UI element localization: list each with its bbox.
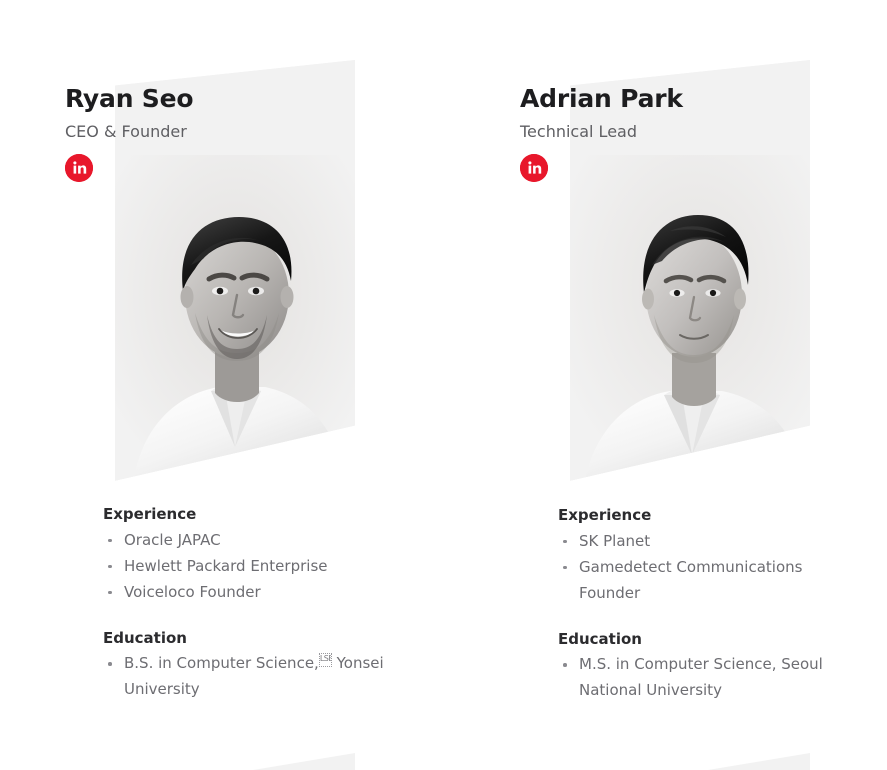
person-name: Adrian Park bbox=[520, 85, 850, 113]
person-name: Ryan Seo bbox=[65, 85, 395, 113]
experience-list: Oracle JAPAC Hewlett Packard Enterprise … bbox=[103, 528, 403, 606]
list-item: M.S. in Computer Science, Seoul National… bbox=[558, 652, 858, 704]
experience-list: SK Planet Gamedetect Communications Foun… bbox=[558, 529, 858, 607]
list-item: B.S. in Computer Science,LSEP Yonsei Uni… bbox=[103, 651, 403, 703]
linkedin-glyph bbox=[520, 154, 548, 182]
line-separator-glyph: LSEP bbox=[319, 653, 332, 667]
identity-block: Adrian Park Technical Lead bbox=[520, 85, 850, 182]
experience-group: Experience Oracle JAPAC Hewlett Packard … bbox=[103, 505, 403, 606]
education-list: B.S. in Computer Science,LSEP Yonsei Uni… bbox=[103, 651, 403, 703]
education-heading: Education bbox=[558, 630, 858, 649]
education-prefix: B.S. in Computer Science, bbox=[124, 654, 319, 672]
experience-heading: Experience bbox=[558, 506, 858, 525]
person-role: Technical Lead bbox=[520, 122, 850, 141]
profile-card-adrian-park: Adrian Park Technical Lead Experience SK… bbox=[505, 0, 887, 770]
list-item: SK Planet bbox=[558, 529, 858, 555]
education-list: M.S. in Computer Science, Seoul National… bbox=[558, 652, 858, 704]
linkedin-icon[interactable] bbox=[520, 154, 548, 182]
experience-heading: Experience bbox=[103, 505, 403, 524]
experience-group: Experience SK Planet Gamedetect Communic… bbox=[558, 506, 858, 607]
list-item: Hewlett Packard Enterprise bbox=[103, 554, 403, 580]
education-heading: Education bbox=[103, 629, 403, 648]
profile-card-ryan-seo: Ryan Seo CEO & Founder Experience Oracle… bbox=[50, 0, 470, 770]
portrait-photo-adrian-park bbox=[570, 155, 810, 485]
linkedin-glyph bbox=[65, 154, 93, 182]
team-profiles-section: Ryan Seo CEO & Founder Experience Oracle… bbox=[0, 0, 887, 770]
list-item: Oracle JAPAC bbox=[103, 528, 403, 554]
details-block: Experience Oracle JAPAC Hewlett Packard … bbox=[103, 505, 403, 703]
identity-block: Ryan Seo CEO & Founder bbox=[65, 85, 395, 182]
linkedin-icon[interactable] bbox=[65, 154, 93, 182]
education-group: Education M.S. in Computer Science, Seou… bbox=[558, 630, 858, 705]
list-item: Gamedetect Communications Founder bbox=[558, 555, 858, 607]
list-item: Voiceloco Founder bbox=[103, 580, 403, 606]
education-group: Education B.S. in Computer Science,LSEP … bbox=[103, 629, 403, 704]
person-role: CEO & Founder bbox=[65, 122, 395, 141]
portrait-photo-ryan-seo bbox=[115, 155, 355, 485]
details-block: Experience SK Planet Gamedetect Communic… bbox=[558, 506, 858, 704]
